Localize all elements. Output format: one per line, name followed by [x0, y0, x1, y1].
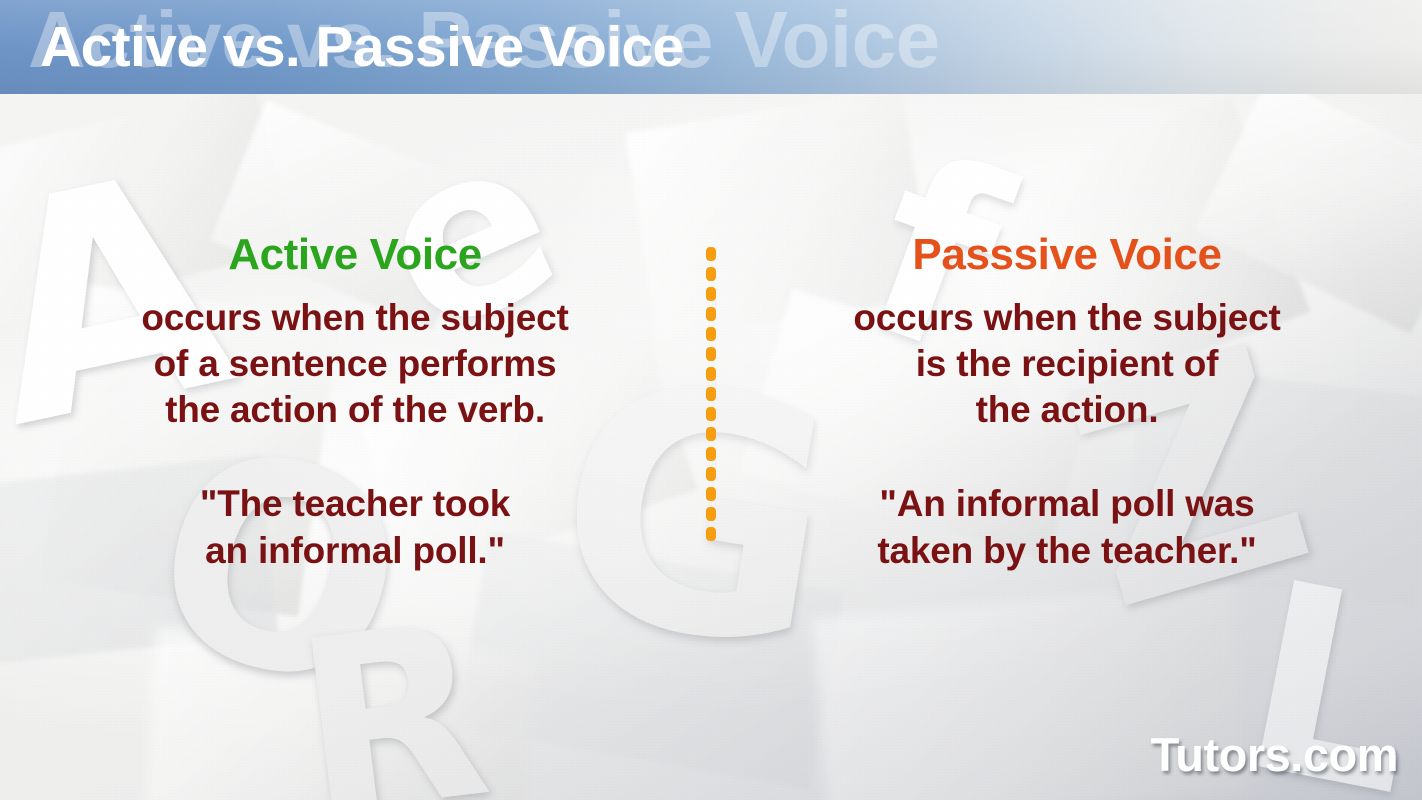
definition-line: the action.	[747, 387, 1387, 433]
example-line: an informal poll."	[35, 528, 675, 574]
passive-voice-heading: Passsive Voice	[747, 232, 1387, 279]
example-line: taken by the teacher."	[747, 528, 1387, 574]
divider-dot	[706, 307, 716, 321]
slide-canvas: A O e G f Z L R Active vs. Passive Voice…	[0, 0, 1422, 800]
column-passive-voice: Passsive Voice occurs when the subject i…	[747, 232, 1387, 574]
divider-dot	[706, 407, 716, 421]
definition-line: occurs when the subject	[35, 295, 675, 341]
passive-voice-example: "An informal poll was taken by the teach…	[747, 481, 1387, 574]
divider-dot	[706, 327, 716, 341]
definition-line: occurs when the subject	[747, 295, 1387, 341]
active-voice-definition: occurs when the subject of a sentence pe…	[35, 295, 675, 434]
definition-line: of a sentence performs	[35, 341, 675, 387]
passive-voice-definition: occurs when the subject is the recipient…	[747, 295, 1387, 434]
active-voice-heading: Active Voice	[35, 232, 675, 279]
divider-dot	[706, 507, 716, 521]
divider-dot	[706, 267, 716, 281]
divider-dot	[706, 427, 716, 441]
column-active-voice: Active Voice occurs when the subject of …	[35, 232, 675, 574]
divider-dot	[706, 367, 716, 381]
divider-dot	[706, 487, 716, 501]
page-title: Active vs. Passive Voice	[40, 14, 684, 80]
tutors-logo: Tutors.com	[1151, 727, 1398, 782]
example-line: "The teacher took	[35, 481, 675, 527]
divider-dot	[706, 447, 716, 461]
divider-dot	[706, 527, 716, 541]
column-divider-dotted-line	[706, 247, 716, 560]
divider-dot	[706, 467, 716, 481]
divider-dot	[706, 347, 716, 361]
divider-dot	[706, 387, 716, 401]
active-voice-example: "The teacher took an informal poll."	[35, 481, 675, 574]
definition-line: the action of the verb.	[35, 387, 675, 433]
divider-dot	[706, 247, 716, 261]
divider-dot	[706, 287, 716, 301]
example-line: "An informal poll was	[747, 481, 1387, 527]
definition-line: is the recipient of	[747, 341, 1387, 387]
